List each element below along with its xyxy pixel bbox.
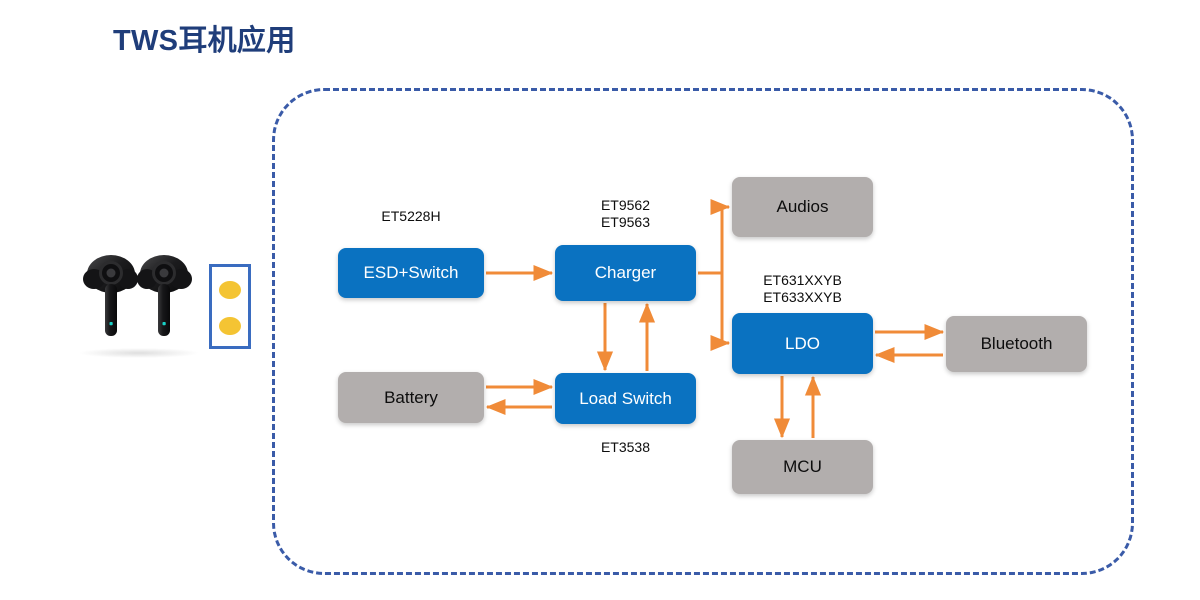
page-title: TWS耳机应用 [113, 17, 296, 59]
block-bluetooth[interactable]: Bluetooth [946, 316, 1087, 372]
block-mcu[interactable]: MCU [732, 440, 873, 494]
chip-pad-top [219, 281, 241, 299]
slide-canvas: TWS耳机应用 [0, 0, 1200, 600]
block-charger[interactable]: Charger [555, 245, 696, 301]
block-esd-switch[interactable]: ESD+Switch [338, 248, 484, 298]
block-load-switch[interactable]: Load Switch [555, 373, 696, 424]
annotation-loadswitch-part: ET3538 [555, 439, 696, 456]
chip-package-graphic [209, 264, 251, 349]
annotation-ldo-part: ET631XXYB ET633XXYB [732, 272, 873, 306]
annotation-esd-part: ET5228H [338, 208, 484, 225]
block-battery[interactable]: Battery [338, 372, 484, 423]
annotation-charger-part: ET9562 ET9563 [555, 197, 696, 231]
chip-pad-bottom [219, 317, 241, 335]
tws-earbuds-image [78, 246, 198, 356]
block-ldo[interactable]: LDO [732, 313, 873, 374]
block-audios[interactable]: Audios [732, 177, 873, 237]
